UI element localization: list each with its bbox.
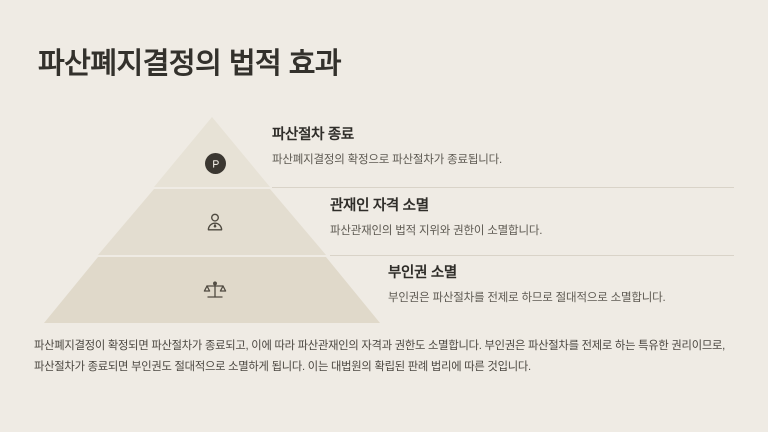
- scales-of-justice-icon: [200, 275, 230, 305]
- person-trustee-icon: [200, 207, 230, 237]
- tier-3-heading: 부인권 소멸: [388, 264, 734, 282]
- tier-2-heading: 관재인 자격 소멸: [330, 197, 734, 215]
- tier-row-2: 관재인 자격 소멸 파산관재인의 법적 지위와 권한이 소멸합니다.: [330, 197, 734, 239]
- tier-2-description: 파산관재인의 법적 지위와 권한이 소멸합니다.: [330, 224, 734, 239]
- row-divider-2: [330, 255, 734, 256]
- tier-1-heading: 파산절차 종료: [272, 126, 734, 144]
- row-divider-1: [272, 187, 734, 188]
- tier-1-description: 파산폐지결정의 확정으로 파산절차가 종료됩니다.: [272, 153, 734, 168]
- tier-row-1: 파산절차 종료 파산폐지결정의 확정으로 파산절차가 종료됩니다.: [272, 126, 734, 168]
- footer-note: 파산폐지결정이 확정되면 파산절차가 종료되고, 이에 따라 파산관재인의 자격…: [34, 336, 734, 378]
- tier-3-description: 부인권은 파산절차를 전제로 하므로 절대적으로 소멸합니다.: [388, 291, 734, 306]
- page-title: 파산폐지결정의 법적 효과: [38, 47, 341, 82]
- badge-circle: [205, 153, 226, 174]
- slide-canvas: 파산폐지결정의 법적 효과: [0, 0, 768, 432]
- tier-row-3: 부인권 소멸 부인권은 파산절차를 전제로 하므로 절대적으로 소멸합니다.: [388, 264, 734, 306]
- gavel-badge-icon: [200, 148, 230, 178]
